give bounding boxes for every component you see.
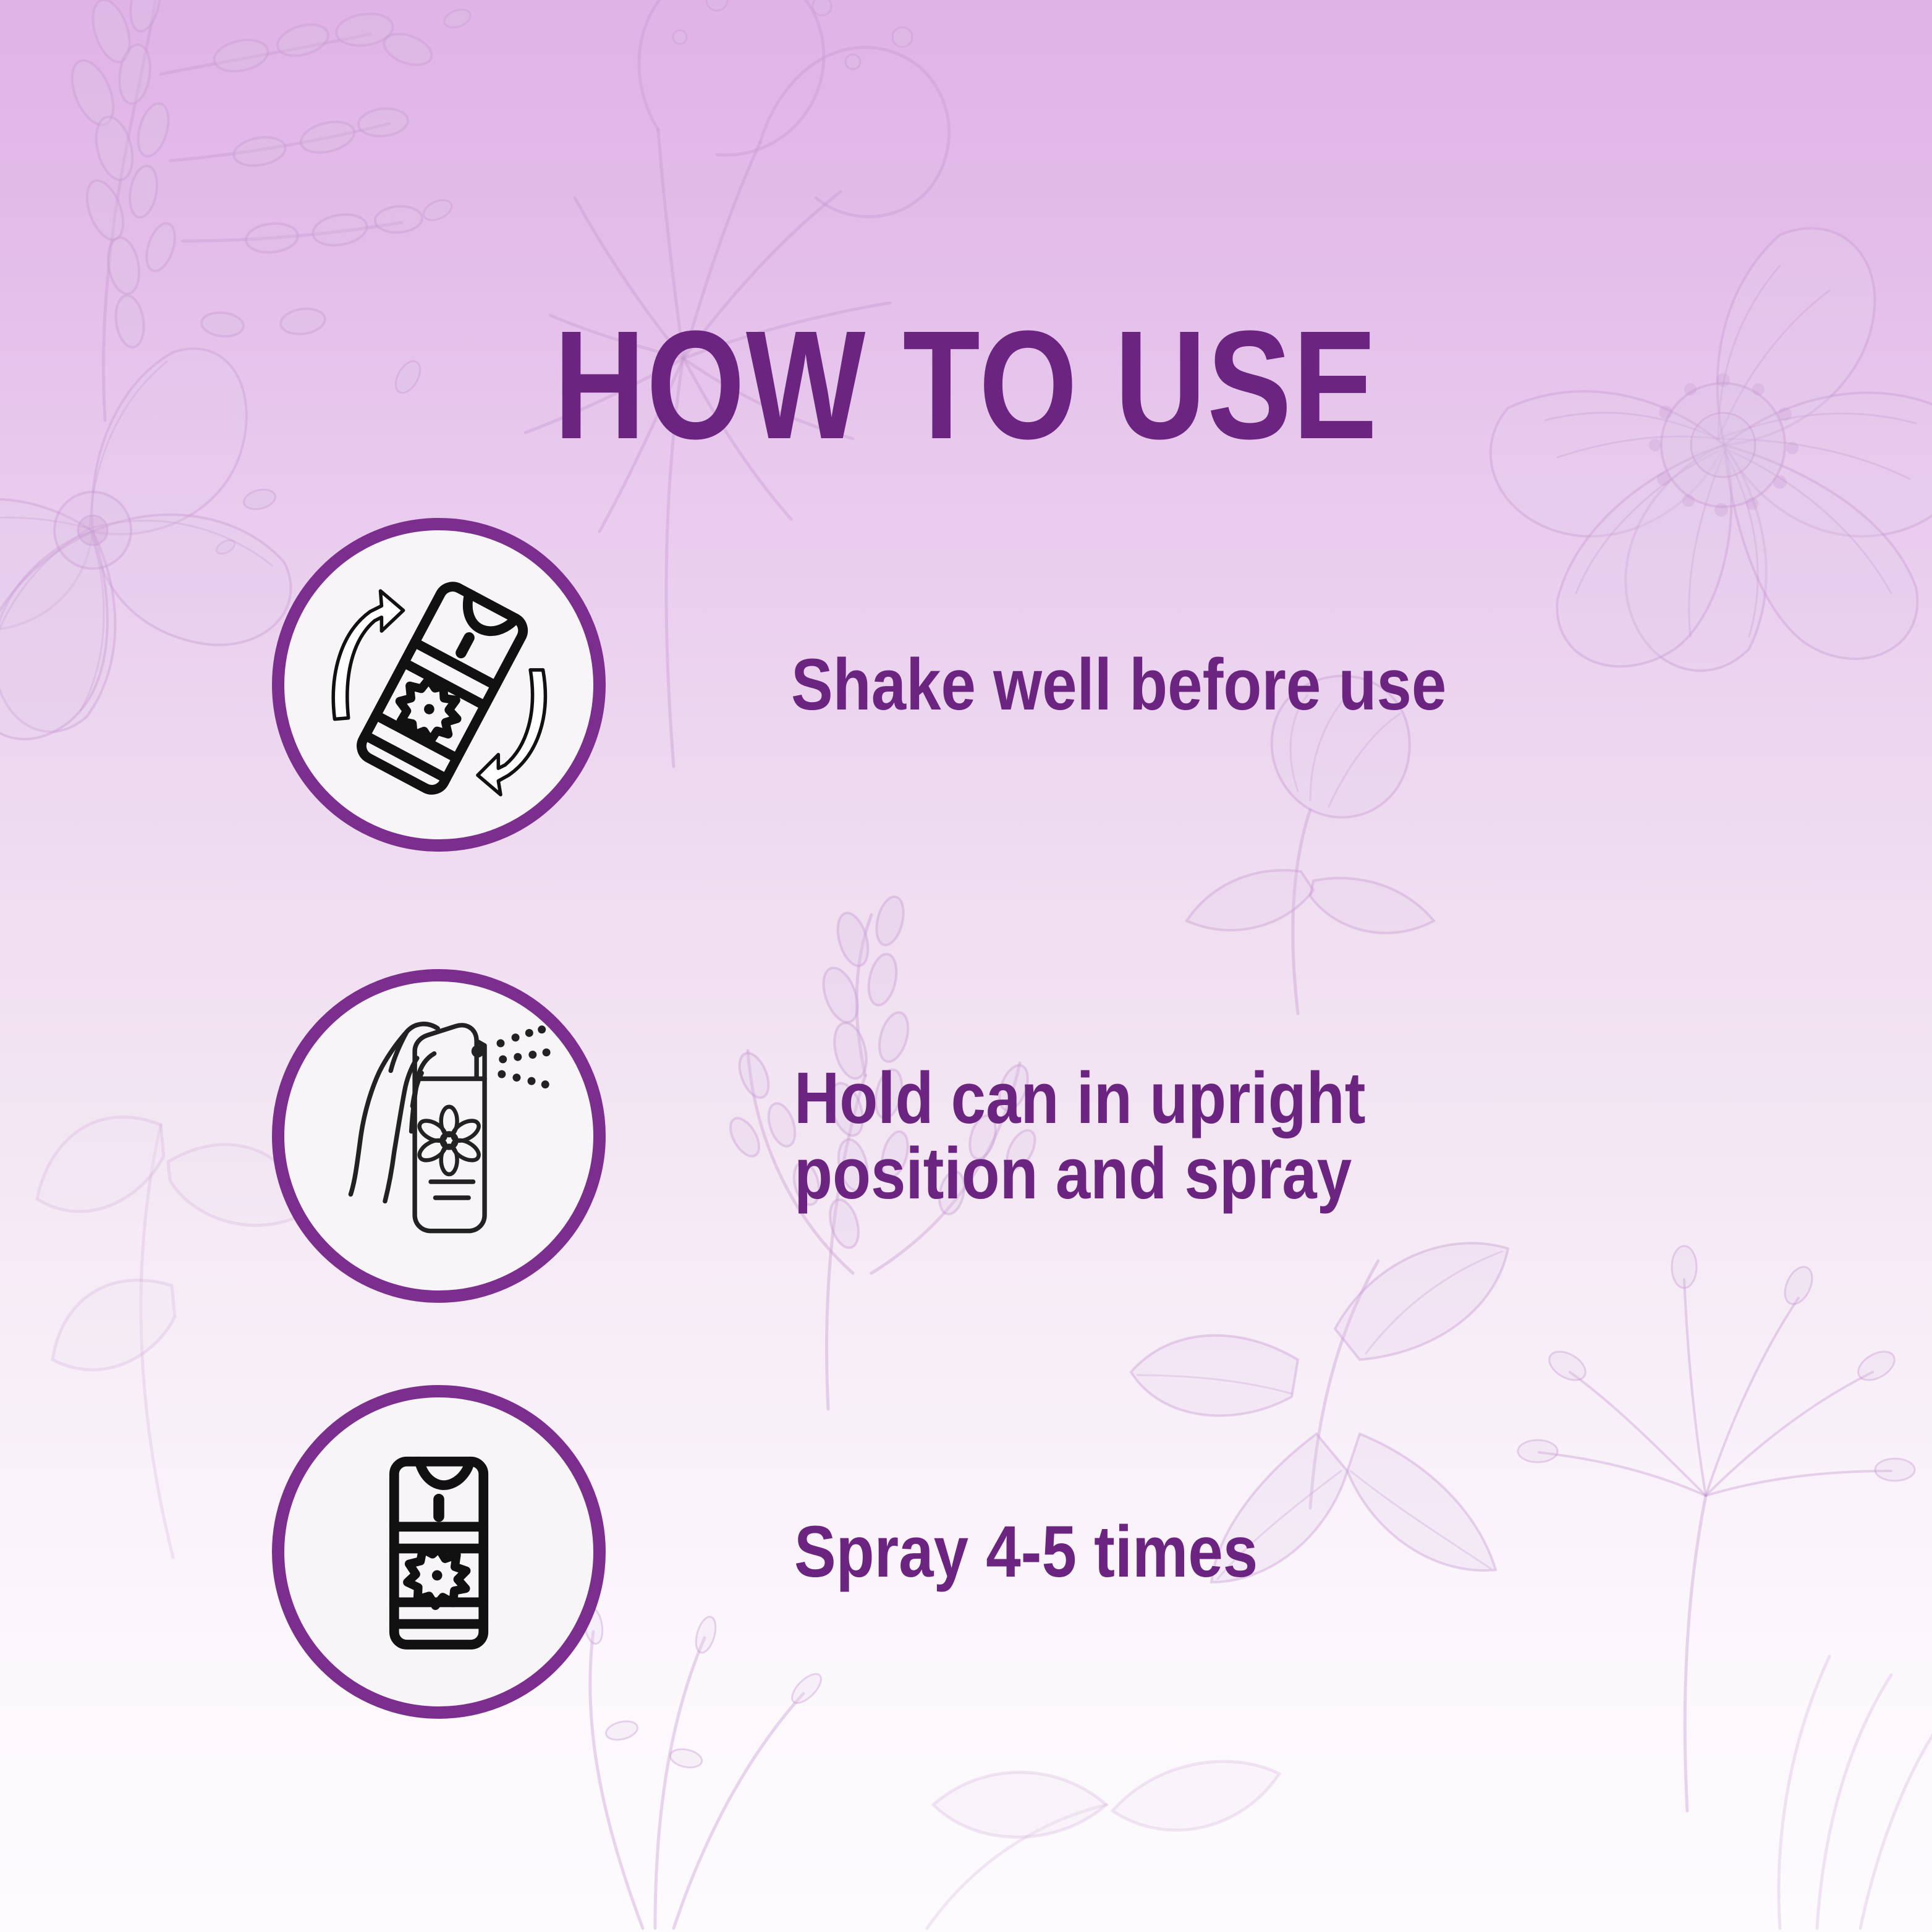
upright-spray-can-icon	[284, 1397, 593, 1706]
step-icon-circle	[272, 969, 606, 1303]
step-item-shake: Shake well before use	[272, 518, 1553, 852]
page-title: HOW TO USE	[174, 308, 1758, 462]
step-label: Hold can in upright position and spray	[794, 1061, 1366, 1211]
shake-spray-can-icon	[284, 530, 593, 839]
step-item-spray-count: Spray 4-5 times	[272, 1385, 1333, 1719]
hand-spraying-can-icon	[284, 981, 593, 1290]
step-label: Spray 4-5 times	[794, 1514, 1258, 1590]
step-item-hold-upright: Hold can in upright position and spray	[272, 969, 1459, 1303]
step-label: Shake well before use	[791, 647, 1446, 722]
step-icon-circle	[272, 518, 606, 852]
step-icon-circle	[272, 1385, 606, 1719]
how-to-use-poster: HOW TO USE	[0, 0, 1932, 1932]
